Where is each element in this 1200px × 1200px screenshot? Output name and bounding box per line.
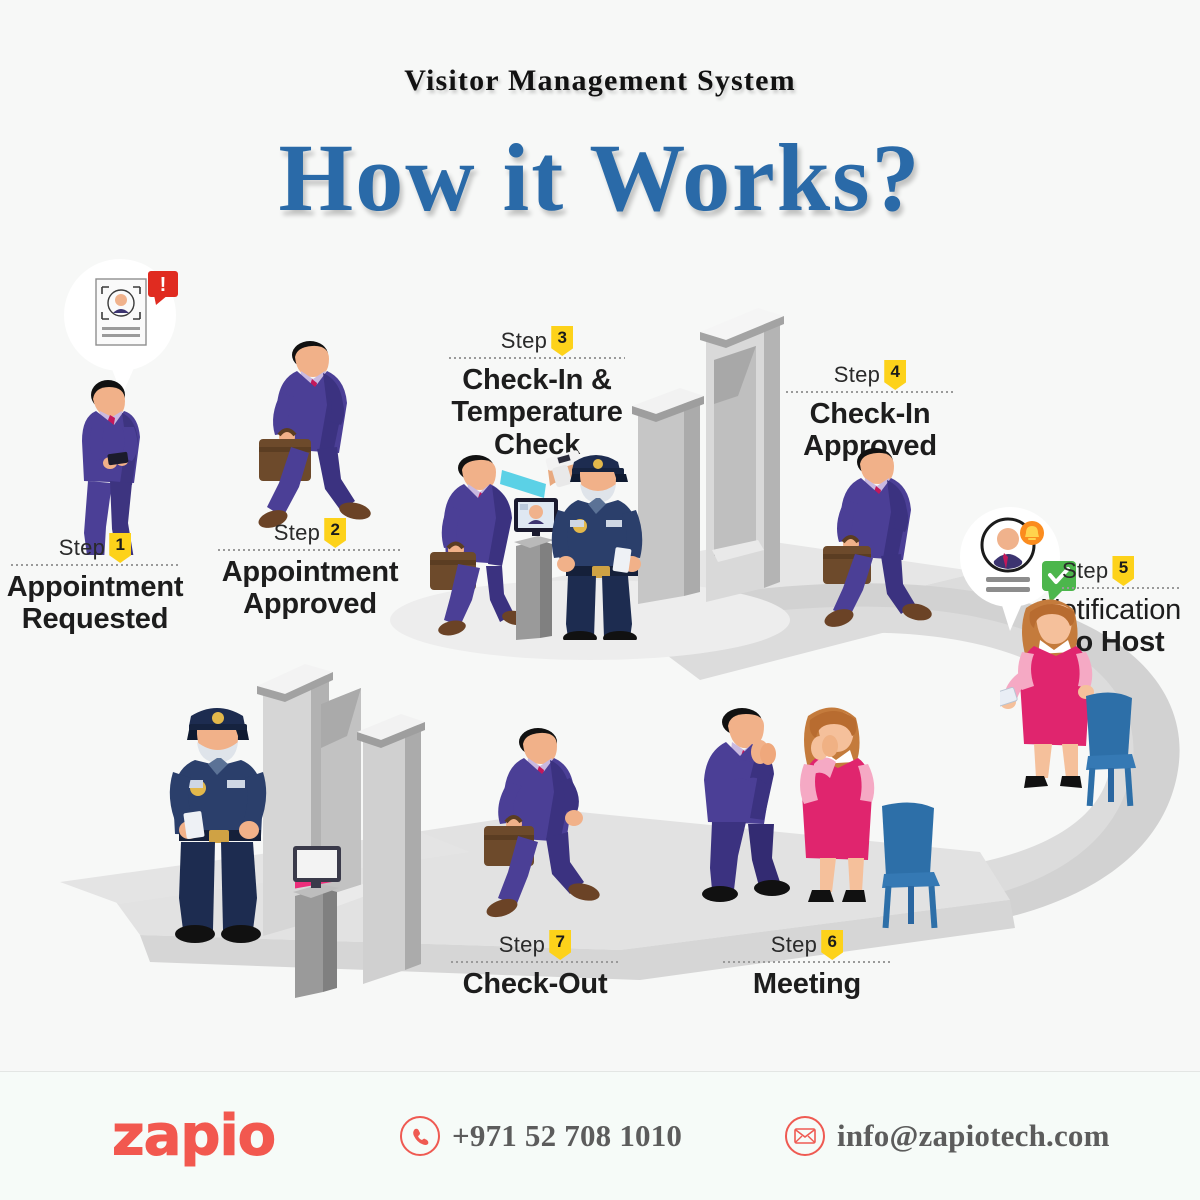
step-6-title-line-1: Meeting bbox=[712, 968, 902, 1000]
step-6-label: Step 6 Meeting bbox=[712, 930, 902, 1000]
step-7-number-badge: 7 bbox=[549, 930, 571, 960]
step-1-title-line-1: Appointment bbox=[0, 571, 190, 603]
chair-meeting bbox=[868, 800, 978, 930]
step-4-word: Step bbox=[834, 362, 880, 388]
step-2-title: Appointment Approved bbox=[205, 556, 415, 621]
step-6-badge-row: Step 6 bbox=[712, 930, 902, 963]
step-4-badge-row: Step 4 bbox=[775, 360, 965, 393]
dotted-rule bbox=[11, 564, 178, 566]
footer-phone[interactable]: +971 52 708 1010 bbox=[400, 1116, 682, 1156]
exit-guard bbox=[165, 700, 275, 970]
step-1-title: Appointment Requested bbox=[0, 571, 190, 636]
step-1-word: Step bbox=[59, 535, 105, 561]
step-2-badge-row: Step 2 bbox=[205, 518, 415, 551]
entry-gate-upper bbox=[628, 300, 828, 630]
svg-text:!: ! bbox=[160, 274, 167, 296]
meeting-woman bbox=[800, 707, 874, 902]
step-7-title: Check-Out bbox=[440, 968, 630, 1000]
page-title: How it Works? bbox=[0, 130, 1200, 226]
step-5-number-badge: 5 bbox=[1112, 556, 1134, 586]
chair-upper bbox=[1068, 690, 1168, 810]
step-2-number-badge: 2 bbox=[324, 518, 346, 548]
step-1-number-badge: 1 bbox=[109, 533, 131, 563]
step-7-label: Step 7 Check-Out bbox=[440, 930, 630, 1000]
step-4-number-badge: 4 bbox=[884, 360, 906, 390]
dotted-rule bbox=[1062, 587, 1180, 589]
dotted-rule bbox=[218, 549, 403, 551]
step-7-word: Step bbox=[499, 932, 545, 958]
step-2-label: Step 2 Appointment Approved bbox=[205, 518, 415, 621]
envelope-icon bbox=[785, 1116, 825, 1156]
step-1-title-line-2: Requested bbox=[0, 603, 190, 635]
step-5-word: Step bbox=[1062, 558, 1108, 584]
step-2-title-line-2: Approved bbox=[205, 588, 415, 620]
dotted-rule bbox=[449, 357, 625, 359]
step-1-label: Step 1 Appointment Requested bbox=[0, 533, 190, 636]
step-3-word: Step bbox=[501, 328, 547, 354]
step-6-word: Step bbox=[771, 932, 817, 958]
step-6-title: Meeting bbox=[712, 968, 902, 1000]
dotted-rule bbox=[786, 391, 953, 393]
step-7-title-line-1: Check-Out bbox=[440, 968, 630, 1000]
step-4-title-line-1: Check-In bbox=[775, 398, 965, 430]
step-2-title-line-1: Appointment bbox=[205, 556, 415, 588]
brand-logo[interactable]: zapio bbox=[112, 1104, 275, 1169]
meeting-man bbox=[702, 708, 790, 902]
step-3-badge-row: Step 3 bbox=[437, 326, 637, 359]
phone-icon bbox=[400, 1116, 440, 1156]
step3-illustration bbox=[428, 440, 658, 640]
footer-bar: zapio +971 52 708 1010 info@zapiotech.co… bbox=[0, 1071, 1200, 1200]
step-5-badge-row: Step 5 bbox=[1040, 556, 1200, 589]
step-2-word: Step bbox=[274, 520, 320, 546]
phone-number: +971 52 708 1010 bbox=[452, 1118, 682, 1154]
step-1-badge-row: Step 1 bbox=[0, 533, 190, 566]
step-6-number-badge: 6 bbox=[821, 930, 843, 960]
step-3-title-line-2: Temperature bbox=[437, 396, 637, 428]
dotted-rule bbox=[451, 961, 618, 963]
dotted-rule bbox=[723, 961, 890, 963]
kiosk bbox=[514, 498, 558, 640]
exit-kiosk bbox=[275, 840, 385, 1000]
step4-illustration bbox=[805, 440, 965, 630]
email-address: info@zapiotech.com bbox=[837, 1118, 1110, 1154]
step-3-title-line-1: Check-In & bbox=[437, 364, 637, 396]
step-3-number-badge: 3 bbox=[551, 326, 573, 356]
step1-illustration: ! bbox=[60, 255, 210, 555]
page-subtitle: Visitor Management System bbox=[0, 64, 1200, 98]
step7-illustration bbox=[470, 720, 630, 930]
footer-email[interactable]: info@zapiotech.com bbox=[785, 1116, 1110, 1156]
step-7-badge-row: Step 7 bbox=[440, 930, 630, 963]
infographic-canvas: Visitor Management System How it Works? … bbox=[0, 0, 1200, 1200]
step2-illustration bbox=[245, 335, 405, 545]
